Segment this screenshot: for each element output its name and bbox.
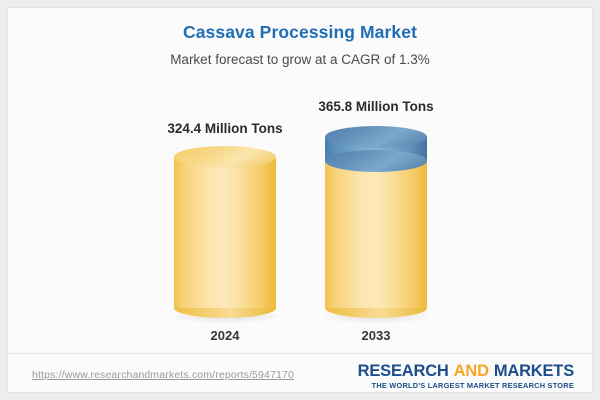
bar-value-label-2033: 365.8 Million Tons bbox=[296, 99, 456, 114]
cylinder-body-2024 bbox=[174, 157, 276, 308]
chart-card: Cassava Processing Market Market forecas… bbox=[8, 8, 592, 392]
logo-word-and: AND bbox=[454, 362, 489, 380]
cylinder-top-ellipse-2024 bbox=[174, 146, 276, 168]
chart-header: Cassava Processing Market Market forecas… bbox=[8, 8, 592, 67]
cylinder-top-ellipse-2033 bbox=[325, 126, 427, 148]
research-and-markets-logo[interactable]: RESEARCHANDMARKETS THE WORLD'S LARGEST M… bbox=[358, 362, 574, 391]
source-url-link[interactable]: https://www.researchandmarkets.com/repor… bbox=[32, 369, 294, 381]
bar-group-2024: 324.4 Million Tons 2024 bbox=[174, 88, 276, 348]
bar-group-2033: 365.8 Million Tons 2033 bbox=[325, 88, 427, 348]
bar-cylinder-2024[interactable] bbox=[174, 146, 276, 318]
category-label-2024: 2024 bbox=[174, 328, 276, 343]
logo-word-markets: MARKETS bbox=[494, 362, 574, 380]
logo-tagline: THE WORLD'S LARGEST MARKET RESEARCH STOR… bbox=[358, 381, 574, 391]
chart-footer: https://www.researchandmarkets.com/repor… bbox=[8, 354, 592, 392]
page-title: Cassava Processing Market bbox=[8, 8, 592, 43]
bar-value-label-2024: 324.4 Million Tons bbox=[145, 121, 305, 136]
logo-word-research: RESEARCH bbox=[358, 362, 449, 380]
cylinder-body-base-2033 bbox=[325, 157, 427, 308]
bar-cylinder-2033[interactable] bbox=[325, 126, 427, 318]
chart-subtitle: Market forecast to grow at a CAGR of 1.3… bbox=[8, 43, 592, 67]
category-label-2033: 2033 bbox=[325, 328, 427, 343]
chart-plot-area: 324.4 Million Tons 2024 365.8 Million To… bbox=[8, 88, 592, 348]
cylinder-segment-divider-ellipse-2033 bbox=[325, 150, 427, 172]
logo-wordmark: RESEARCHANDMARKETS bbox=[358, 362, 574, 380]
